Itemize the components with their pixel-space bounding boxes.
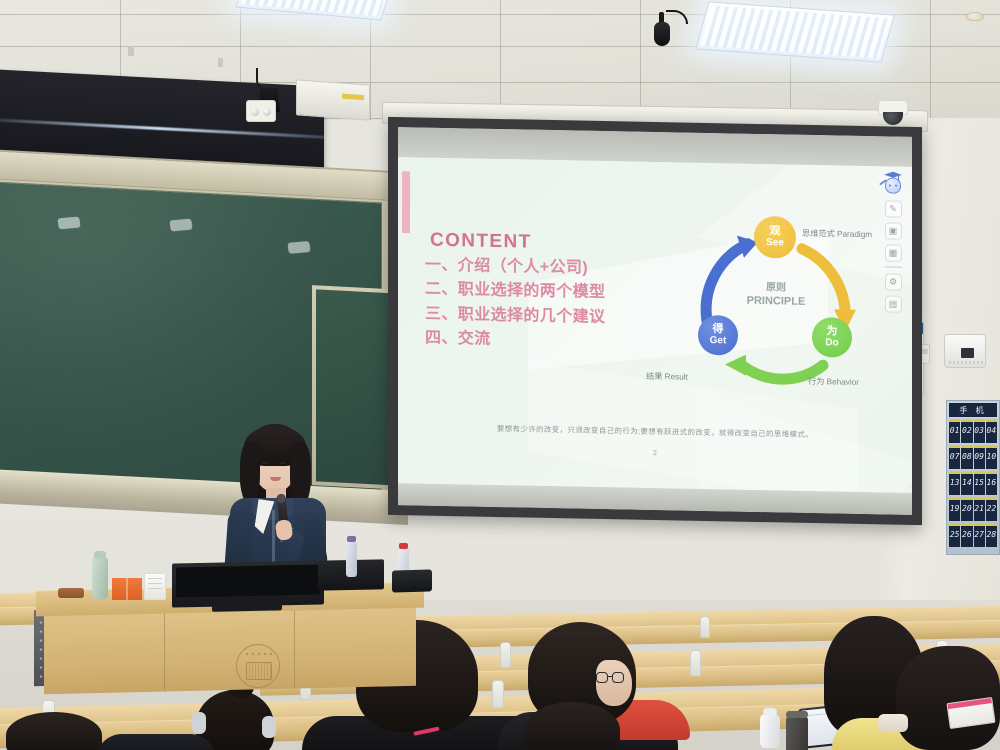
presentation-slide: CONTENT 一、介绍（个人+公司) 二、职业选择的两个模型 三、职业选择的几… xyxy=(398,157,912,493)
cycle-side-label-paradigm: 思维范式 Paradigm xyxy=(802,227,872,240)
thermos-bottle xyxy=(92,557,108,599)
hand xyxy=(878,714,908,732)
cycle-node-label-en: Do xyxy=(825,338,838,349)
document-icon[interactable]: ▤ xyxy=(885,295,902,312)
projector-rail xyxy=(296,79,370,120)
pocket-cell: 01 xyxy=(949,419,960,443)
smoke-detector-icon xyxy=(966,12,984,21)
pocket-chart-row: 19 20 21 22 xyxy=(949,497,997,521)
wall-control-panel[interactable] xyxy=(944,334,986,368)
toc-item: 二、职业选择的两个模型 xyxy=(425,278,605,306)
pocket-chart-row: 01 02 03 04 xyxy=(949,419,997,443)
slide-table-of-contents: 一、介绍（个人+公司) 二、职业选择的两个模型 三、职业选择的几个建议 四、交流 xyxy=(425,254,605,355)
pocket-chart-row: 25 26 27 28 xyxy=(949,523,997,547)
student-head xyxy=(524,702,620,750)
white-box xyxy=(144,573,166,600)
orange-box xyxy=(112,578,142,600)
phone-pocket-chart: 手 机 01 02 03 04 07 08 09 10 13 14 15 16 … xyxy=(946,400,1000,555)
cycle-center-label: 原则 PRINCIPLE xyxy=(736,282,816,310)
cycle-side-label-result: 结果 Result xyxy=(646,370,688,383)
pocket-cell: 21 xyxy=(974,497,985,521)
water-bottle xyxy=(760,714,780,748)
pocket-cell: 10 xyxy=(986,445,997,469)
pocket-cell: 14 xyxy=(961,471,972,495)
pocket-cell: 07 xyxy=(949,445,960,469)
principle-cycle-diagram: 观 See 为 Do 得 Get 原则 PRINCIPLE xyxy=(684,211,884,415)
ceiling-light-panel xyxy=(695,1,895,62)
pocket-chart-row: 13 14 15 16 xyxy=(949,471,997,495)
toc-item: 一、介绍（个人+公司) xyxy=(425,254,605,282)
pocket-chart-row: 07 08 09 10 xyxy=(949,445,997,469)
toc-item: 三、职业选择的几个建议 xyxy=(425,302,605,330)
pocket-cell: 16 xyxy=(986,471,997,495)
cycle-node-label-cn: 为 xyxy=(827,326,838,338)
podium-monitor xyxy=(172,560,324,607)
pen-icon[interactable]: ✎ xyxy=(885,200,902,217)
pocket-cell: 27 xyxy=(974,523,985,547)
pocket-cell: 20 xyxy=(961,497,972,521)
camera-glyph: ▣ xyxy=(889,225,898,236)
bench-divider xyxy=(690,650,701,676)
pocket-cell: 02 xyxy=(961,419,972,443)
brown-object xyxy=(58,588,84,598)
grid-glyph: ▦ xyxy=(889,247,898,258)
pocket-cell: 15 xyxy=(974,471,985,495)
cycle-node-do: 为 Do xyxy=(812,317,852,358)
water-bottle xyxy=(346,541,357,577)
cycle-node-label-cn: 得 xyxy=(713,324,724,336)
pocket-cell: 09 xyxy=(974,445,985,469)
student-face xyxy=(596,660,632,706)
dome-camera-icon xyxy=(878,100,908,126)
cycle-node-label-cn: 观 xyxy=(770,226,781,238)
bench-divider xyxy=(500,642,511,668)
ceiling-camera-icon xyxy=(652,12,672,46)
settings-icon[interactable]: ⚙ xyxy=(885,273,902,290)
tumbler-cup xyxy=(786,716,808,750)
projection-screen: CONTENT 一、介绍（个人+公司) 二、职业选择的两个模型 三、职业选择的几… xyxy=(388,117,922,525)
toc-item: 四、交流 xyxy=(425,327,605,355)
student-body xyxy=(96,734,216,750)
cycle-node-label-en: See xyxy=(766,238,784,249)
cycle-side-label-behavior: 行为 Behavior xyxy=(808,375,859,388)
pocket-chart-title: 手 机 xyxy=(949,403,997,417)
student-head xyxy=(6,712,102,750)
graduate-mascot-icon xyxy=(882,170,904,194)
pocket-cell: 04 xyxy=(986,419,997,443)
cycle-node-get: 得 Get xyxy=(698,315,738,356)
cycle-node-see: 观 See xyxy=(754,216,796,259)
ceiling-light-panel xyxy=(235,0,390,21)
hair-clip xyxy=(192,712,206,734)
settings-glyph: ⚙ xyxy=(889,276,897,287)
bench-divider xyxy=(492,680,504,708)
glasses-icon xyxy=(596,672,624,683)
bench-divider xyxy=(700,616,710,638)
document-glyph: ▤ xyxy=(889,298,898,309)
toolbar-divider xyxy=(885,266,902,267)
slide-accent-bar xyxy=(402,171,410,233)
pocket-cell: 22 xyxy=(986,497,997,521)
slide-heading: CONTENT xyxy=(430,230,532,254)
pocket-cell: 25 xyxy=(949,523,960,547)
university-crest-icon xyxy=(236,644,280,688)
pocket-cell: 13 xyxy=(949,471,960,495)
pocket-cell: 08 xyxy=(961,445,972,469)
black-device xyxy=(392,569,432,592)
pocket-cell: 28 xyxy=(986,523,997,547)
camera-icon[interactable]: ▣ xyxy=(885,222,902,239)
hair-clip xyxy=(262,716,276,738)
pocket-cell: 26 xyxy=(961,523,972,547)
cycle-center-en: PRINCIPLE xyxy=(736,294,816,309)
grid-icon[interactable]: ▦ xyxy=(885,244,902,261)
lecture-hall-photo: CONTENT 一、介绍（个人+公司) 二、职业选择的两个模型 三、职业选择的几… xyxy=(0,0,1000,750)
pen-glyph: ✎ xyxy=(889,203,897,214)
wall-mount-bracket xyxy=(246,100,276,122)
pocket-cell: 19 xyxy=(949,497,960,521)
pocket-cell: 03 xyxy=(974,419,985,443)
cycle-node-label-en: Get xyxy=(710,336,727,347)
slide-toolbar[interactable]: ✎ ▣ ▦ ⚙ ▤ xyxy=(880,170,906,317)
